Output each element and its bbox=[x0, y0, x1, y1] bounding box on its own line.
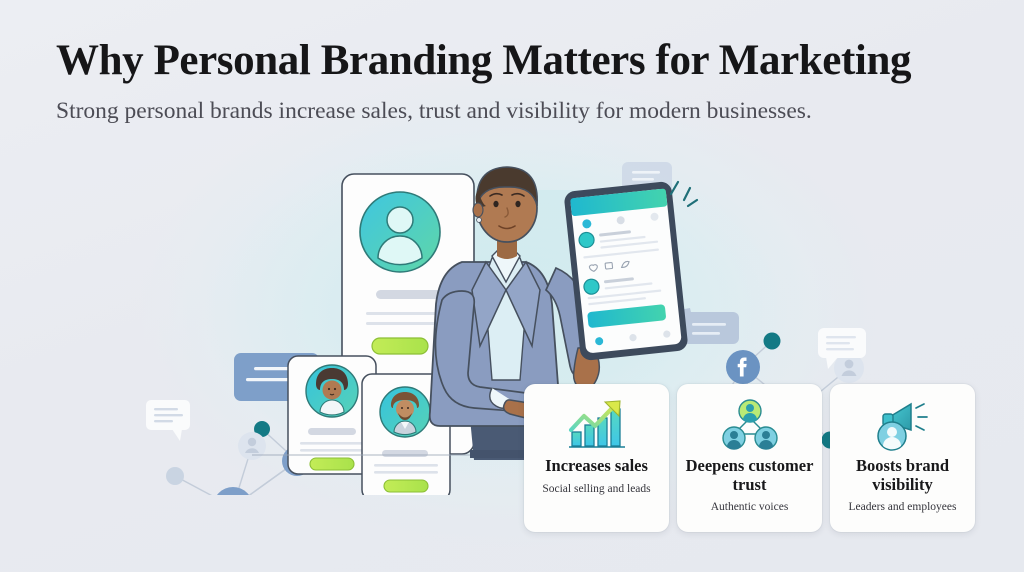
page-title: Why Personal Branding Matters for Market… bbox=[56, 38, 968, 84]
benefit-card-subtitle: Social selling and leads bbox=[542, 483, 650, 495]
megaphone-person-icon bbox=[871, 395, 935, 455]
benefit-card-subtitle: Leaders and employees bbox=[849, 501, 957, 513]
chat-bubble-left-white bbox=[146, 400, 190, 441]
benefit-card-increases-sales[interactable]: Increases sales Social selling and leads bbox=[524, 384, 669, 532]
benefit-card-brand-visibility[interactable]: Boosts brand visibility Leaders and empl… bbox=[830, 384, 975, 532]
benefit-card-customer-trust[interactable]: Deepens customer trust Authentic voices bbox=[677, 384, 822, 532]
benefit-card-title: Deepens customer trust bbox=[684, 457, 816, 494]
left-social-network bbox=[175, 429, 297, 495]
left-network-nodes bbox=[166, 421, 270, 495]
header: Why Personal Branding Matters for Market… bbox=[0, 0, 1024, 125]
twitter-icon-left bbox=[213, 487, 253, 495]
growth-chart-icon bbox=[564, 395, 630, 455]
page-subtitle: Strong personal brands increase sales, t… bbox=[56, 97, 968, 125]
benefit-card-title: Increases sales bbox=[545, 457, 648, 476]
benefit-card-title: Boosts brand visibility bbox=[837, 457, 969, 494]
benefit-cards: Increases sales Social selling and leads bbox=[524, 384, 976, 532]
facebook-icon bbox=[726, 350, 760, 384]
people-network-icon bbox=[720, 395, 780, 455]
slide-root: Why Personal Branding Matters for Market… bbox=[0, 0, 1024, 572]
chat-bubble-right-blue bbox=[679, 308, 739, 344]
benefit-card-subtitle: Authentic voices bbox=[711, 501, 789, 513]
